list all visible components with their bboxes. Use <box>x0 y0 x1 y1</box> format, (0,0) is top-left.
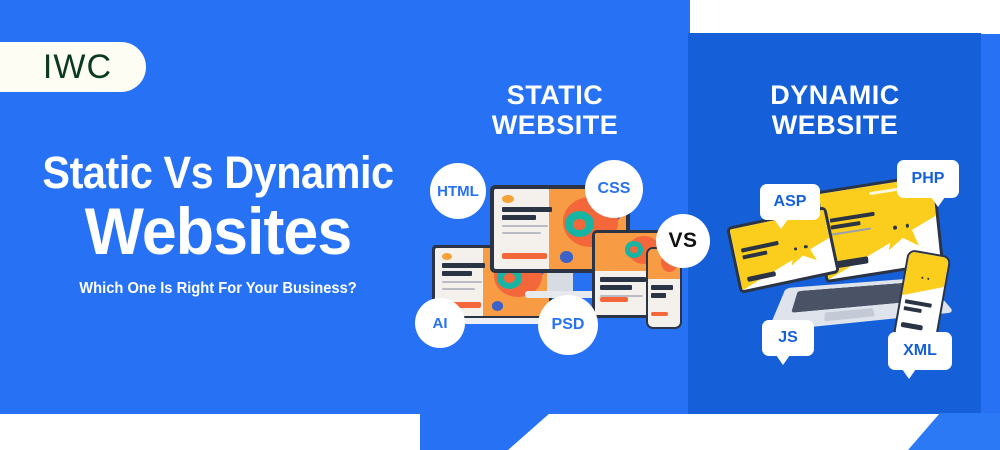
static-phone-heading <box>651 285 675 301</box>
artwork-teal-ring <box>625 241 643 257</box>
artwork-site-logo <box>442 253 452 260</box>
tag-js[interactable]: JS <box>762 320 814 356</box>
tag-xml-label: XML <box>903 342 937 360</box>
headline-line-2: Websites <box>28 197 408 266</box>
tag-asp-label: ASP <box>774 193 807 211</box>
dynamic-title-line-1: DYNAMIC <box>700 80 970 110</box>
artwork-cta-button <box>901 322 924 330</box>
tag-asp[interactable]: ASP <box>760 184 820 220</box>
dynamic-laptop-trackpad <box>824 308 875 321</box>
tag-html[interactable]: HTML <box>430 163 486 219</box>
top-white-band <box>690 0 1000 34</box>
static-title-line-1: STATIC <box>420 80 690 110</box>
artwork-cta-button <box>600 297 627 302</box>
static-column-title: STATIC WEBSITE <box>420 80 690 140</box>
artwork-blue-dot <box>560 251 573 262</box>
static-monitor-neck <box>547 273 573 293</box>
vs-badge-label: VS <box>668 229 697 253</box>
tag-psd-label: PSD <box>552 316 585 334</box>
tag-php[interactable]: PHP <box>897 160 959 198</box>
tag-xml[interactable]: XML <box>888 332 952 370</box>
tag-psd[interactable]: PSD <box>538 295 598 355</box>
static-title-line-2: WEBSITE <box>420 110 690 140</box>
dynamic-column-title: DYNAMIC WEBSITE <box>700 80 970 140</box>
static-tablet-heading <box>600 277 650 297</box>
tag-ai[interactable]: AI <box>415 298 465 348</box>
dynamic-phone-heading <box>903 299 936 318</box>
artwork-site-logo <box>502 195 514 203</box>
tag-php-label: PHP <box>912 170 945 188</box>
tag-js-label: JS <box>778 329 798 347</box>
headline-subtitle: Which One Is Right For Your Business? <box>34 280 402 298</box>
dynamic-title-line-2: WEBSITE <box>700 110 970 140</box>
tag-ai-label: AI <box>433 315 448 332</box>
artwork-cta-button <box>502 253 547 259</box>
tag-css-label: CSS <box>598 180 631 198</box>
logo-text: IWC <box>43 48 112 87</box>
headline-line-1: Static Vs Dynamic <box>34 150 402 195</box>
artwork-blue-dot <box>492 301 503 311</box>
headline-block: Static Vs Dynamic Websites Which One Is … <box>18 150 418 298</box>
tag-css[interactable]: CSS <box>585 160 643 218</box>
static-laptop-heading <box>442 263 490 290</box>
banner-root: IWC Static Vs Dynamic Websites Which One… <box>0 0 1000 450</box>
static-monitor-heading <box>502 207 557 234</box>
logo-pill[interactable]: IWC <box>0 42 146 92</box>
vs-badge: VS <box>656 214 710 268</box>
tag-html-label: HTML <box>437 183 479 200</box>
artwork-cta-button <box>651 312 668 316</box>
